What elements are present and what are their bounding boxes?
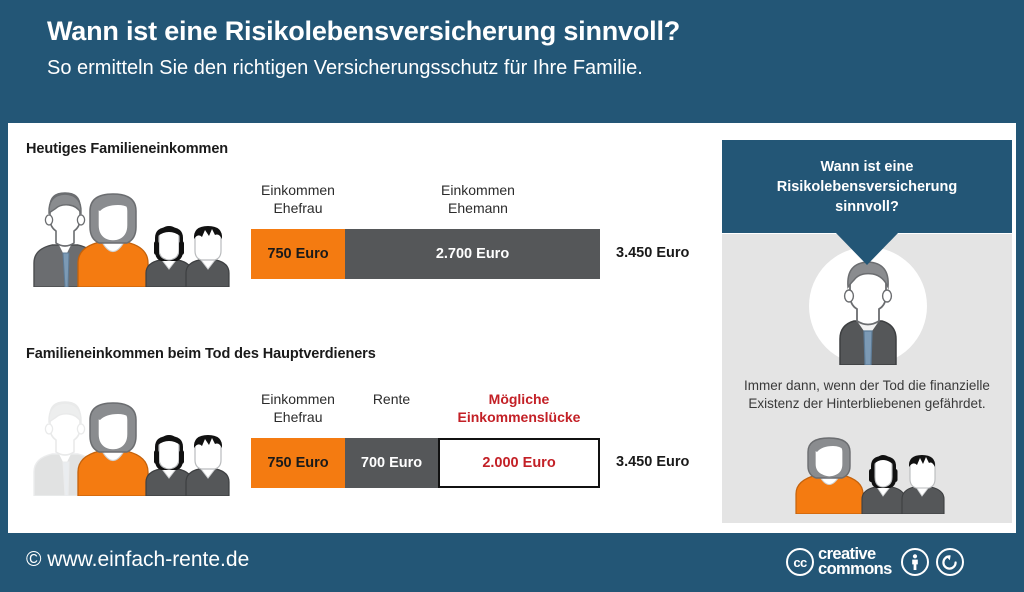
bar-wife-income: 750 Euro <box>251 229 345 279</box>
section-title: Heutiges Familieneinkommen <box>26 141 228 157</box>
bubble-line-3: sinnvoll? <box>777 197 958 217</box>
sidebar-panel: Immer dann, wenn der Tod die finanzielle… <box>722 234 1012 523</box>
bar-total-current: 3.450 Euro <box>616 245 689 261</box>
section-title: Familieneinkommen beim Tod des Hauptverd… <box>26 346 376 362</box>
footer-url[interactable]: © www.einfach-rente.de <box>26 548 249 572</box>
sidebar-caption: Immer dann, wenn der Tod die finanzielle… <box>730 377 1004 413</box>
infographic-root: Wann ist eine Risikolebensversicherung s… <box>0 0 1024 592</box>
cc-wordmark-line2: commons <box>818 562 892 577</box>
cc-license-icons <box>901 548 964 576</box>
bar-husband-income: 2.700 Euro <box>345 229 600 279</box>
header: Wann ist eine Risikolebensversicherung s… <box>47 14 987 81</box>
bar-label-pension: Rente <box>345 390 438 408</box>
family-illustration-full <box>22 191 234 287</box>
content-card: Heutiges Familieneinkommen <box>8 123 1016 533</box>
sidebar-question-bubble: Wann ist eine Risikolebensversicherung s… <box>722 140 1012 233</box>
bar-pension: 700 Euro <box>345 438 438 488</box>
bubble-line-2: Risikolebensversicherung <box>777 177 958 197</box>
cc-sa-sharealike-icon <box>936 548 964 576</box>
cc-badge: cc creative commons <box>786 547 892 577</box>
family-illustration-faded-father <box>22 400 234 496</box>
bar-total-after-death: 3.450 Euro <box>616 454 689 470</box>
sidebar-callout: Wann ist eine Risikolebensversicherung s… <box>714 133 1012 523</box>
cc-icon: cc <box>786 548 814 576</box>
bubble-line-1: Wann ist eine <box>777 157 958 177</box>
creative-commons-logo[interactable]: cc creative commons <box>786 545 964 579</box>
bar-label-wife-income-2: Einkommen Ehefrau <box>251 390 345 426</box>
bar-label-income-gap: Mögliche Einkommenslücke <box>438 390 600 426</box>
bubble-pointer-icon <box>835 232 899 265</box>
cc-by-attribution-icon <box>901 548 929 576</box>
survivors-family-illustration <box>790 436 950 514</box>
bar-wife-income-2: 750 Euro <box>251 438 345 488</box>
page-subtitle: So ermitteln Sie den richtigen Versicher… <box>47 55 987 81</box>
bar-label-husband-income: Einkommen Ehemann <box>413 181 543 217</box>
bar-label-wife-income: Einkommen Ehefrau <box>251 181 345 217</box>
page-title: Wann ist eine Risikolebensversicherung s… <box>47 14 987 48</box>
bar-income-gap: 2.000 Euro <box>438 438 600 488</box>
cc-wordmark: creative commons <box>818 547 892 577</box>
